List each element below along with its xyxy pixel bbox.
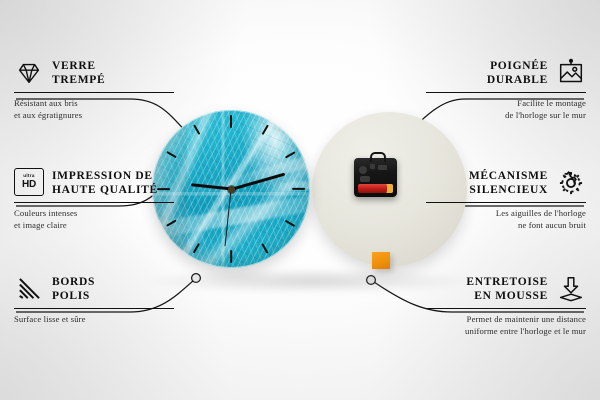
feature-rule: [426, 202, 586, 203]
feature-header: MÉCANISME SILENCIEUX: [426, 168, 586, 198]
feature-bords-polis: BORDS POLIS Surface lisse et sûre: [14, 274, 174, 326]
feature-rule: [426, 308, 586, 309]
feature-entretoise-en-mousse: ENTRETOISE EN MOUSSE Permet de maintenir…: [426, 274, 586, 338]
ultra-hd-badge-icon: ultra HD: [14, 168, 44, 198]
feature-title: IMPRESSION DE HAUTE QUALITÉ: [52, 169, 158, 197]
feature-impression-haute-qualite: ultra HD IMPRESSION DE HAUTE QUALITÉ Cou…: [14, 168, 174, 232]
feature-description: Les aiguilles de l'horloge ne font aucun…: [426, 208, 586, 231]
feature-description: Résistant aux bris et aux égratignures: [14, 98, 174, 121]
movement-detail: [359, 166, 367, 174]
feature-rule: [14, 92, 174, 93]
movement-detail: [378, 165, 387, 170]
wall-clock-front: [152, 110, 310, 268]
feature-description: Permet de maintenir une distance uniform…: [426, 314, 586, 337]
feature-title: VERRE TREMPÉ: [52, 59, 105, 87]
feature-header: ultra HD IMPRESSION DE HAUTE QUALITÉ: [14, 168, 174, 198]
feature-rule: [14, 308, 174, 309]
polished-edge-icon: [14, 274, 44, 304]
movement-detail: [370, 164, 375, 169]
feature-verre-trempe: VERRE TREMPÉ Résistant aux bris et aux é…: [14, 58, 174, 122]
feature-description: Couleurs intenses et image claire: [14, 208, 174, 231]
feature-description: Surface lisse et sûre: [14, 314, 174, 326]
infographic-canvas: VERRE TREMPÉ Résistant aux bris et aux é…: [0, 0, 600, 400]
battery: [358, 184, 393, 193]
feature-poignee-durable: POIGNÉE DURABLE Facilite le montage de l…: [426, 58, 586, 122]
gear-icon: [556, 168, 586, 198]
feature-header: VERRE TREMPÉ: [14, 58, 174, 88]
feature-mecanisme-silencieux: MÉCANISME SILENCIEUX Les aiguilles de l'…: [426, 168, 586, 232]
movement-detail: [360, 176, 370, 182]
feature-rule: [426, 92, 586, 93]
feature-title: ENTRETOISE EN MOUSSE: [466, 275, 548, 303]
feature-title: BORDS POLIS: [52, 275, 95, 303]
hanging-frame-icon: [556, 58, 586, 88]
hanger-loop-icon: [370, 152, 386, 162]
foam-spacer-icon: [556, 274, 586, 304]
feature-header: BORDS POLIS: [14, 274, 174, 304]
feature-title: MÉCANISME SILENCIEUX: [469, 169, 548, 197]
feature-title: POIGNÉE DURABLE: [487, 59, 548, 87]
feature-rule: [14, 202, 174, 203]
diamond-icon: [14, 58, 44, 88]
foam-spacer: [372, 252, 390, 269]
clock-movement: [354, 158, 397, 197]
feature-description: Facilite le montage de l'horloge sur le …: [426, 98, 586, 121]
feature-header: ENTRETOISE EN MOUSSE: [426, 274, 586, 304]
feature-header: POIGNÉE DURABLE: [426, 58, 586, 88]
clock-rim: [152, 110, 310, 268]
